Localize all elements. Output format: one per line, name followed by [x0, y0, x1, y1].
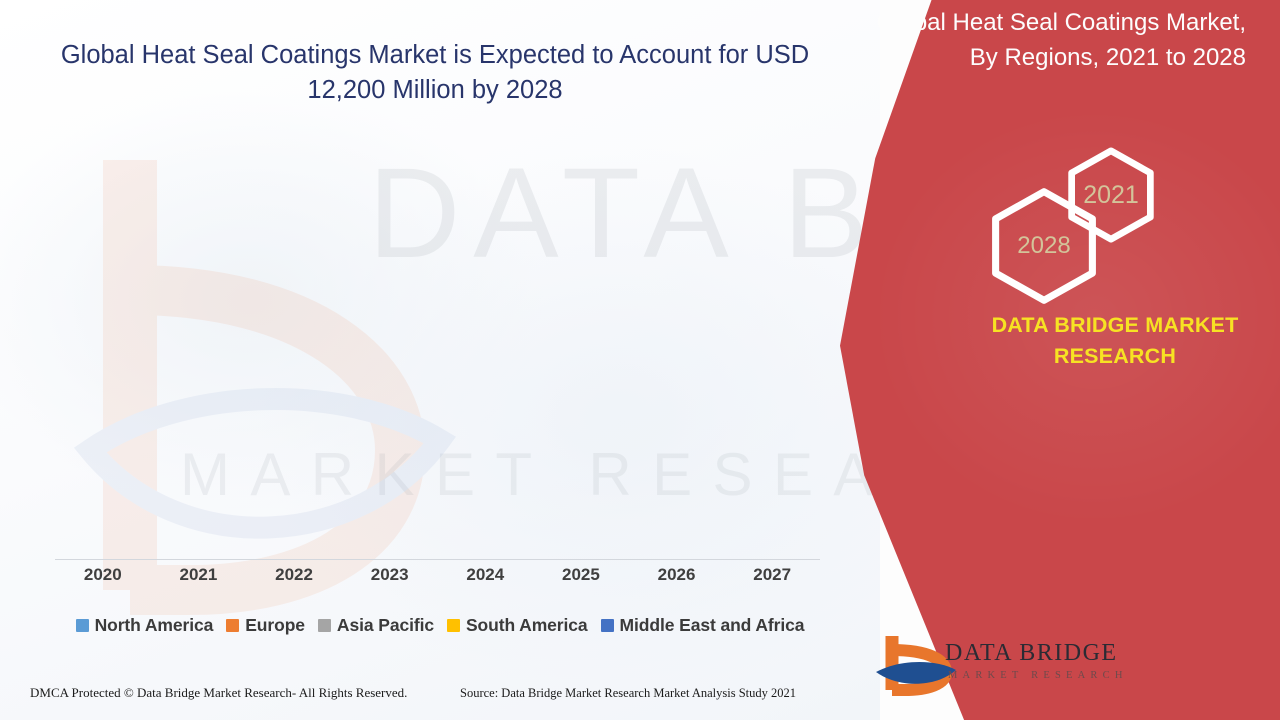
x-axis-label: 2021 — [151, 565, 247, 585]
chart-legend: North AmericaEuropeAsia PacificSouth Ame… — [55, 615, 825, 636]
legend-swatch-icon — [447, 619, 460, 632]
logo-wordmark: DATA BRIDGE — [945, 640, 1118, 667]
panel-title: Global Heat Seal Coatings Market, By Reg… — [866, 6, 1246, 76]
bar-column — [438, 151, 534, 559]
legend-swatch-icon — [76, 619, 89, 632]
bar-column — [246, 151, 342, 559]
bar-column — [724, 151, 820, 559]
bar-column — [55, 151, 151, 559]
legend-label: South America — [466, 615, 588, 636]
x-axis-label: 2027 — [724, 565, 820, 585]
legend-swatch-icon — [601, 619, 614, 632]
hexagon-label-2021: 2021 — [1083, 181, 1139, 210]
legend-label: Asia Pacific — [337, 615, 434, 636]
bar-column — [629, 151, 725, 559]
legend-swatch-icon — [226, 619, 239, 632]
legend-label: Middle East and Africa — [620, 615, 805, 636]
page-title: Global Heat Seal Coatings Market is Expe… — [40, 38, 830, 108]
x-axis-label: 2025 — [533, 565, 629, 585]
x-axis-labels: 20202021202220232024202520262027 — [55, 565, 820, 585]
x-axis-label: 2024 — [438, 565, 534, 585]
x-axis-label: 2022 — [246, 565, 342, 585]
x-axis-label: 2020 — [55, 565, 151, 585]
dmca-notice: DMCA Protected © Data Bridge Market Rese… — [30, 685, 407, 701]
chart-bars — [55, 151, 820, 559]
hexagon-badges: 2028 2021 — [985, 155, 1185, 285]
x-axis-line — [55, 559, 820, 561]
legend-label: North America — [95, 615, 214, 636]
logo-tagline: MARKET RESEARCH — [948, 670, 1128, 681]
legend-item[interactable]: South America — [447, 615, 588, 636]
stacked-bar-chart — [55, 150, 825, 560]
legend-item[interactable]: Middle East and Africa — [601, 615, 805, 636]
bar-column — [533, 151, 629, 559]
x-axis-label: 2026 — [629, 565, 725, 585]
source-note: Source: Data Bridge Market Research Mark… — [460, 686, 796, 701]
hexagon-label-2028: 2028 — [1017, 232, 1070, 260]
brand-name: DATA BRIDGE MARKET RESEARCH — [965, 310, 1265, 372]
bar-column — [342, 151, 438, 559]
x-axis-label: 2023 — [342, 565, 438, 585]
legend-item[interactable]: Asia Pacific — [318, 615, 434, 636]
legend-swatch-icon — [318, 619, 331, 632]
legend-label: Europe — [245, 615, 305, 636]
legend-item[interactable]: North America — [76, 615, 214, 636]
legend-item[interactable]: Europe — [226, 615, 305, 636]
infographic-canvas: DATA BRIDGE MARKET RESEARCH Global Heat … — [0, 0, 1280, 720]
hexagon-badge-2021: 2021 — [1063, 147, 1159, 243]
bar-column — [151, 151, 247, 559]
